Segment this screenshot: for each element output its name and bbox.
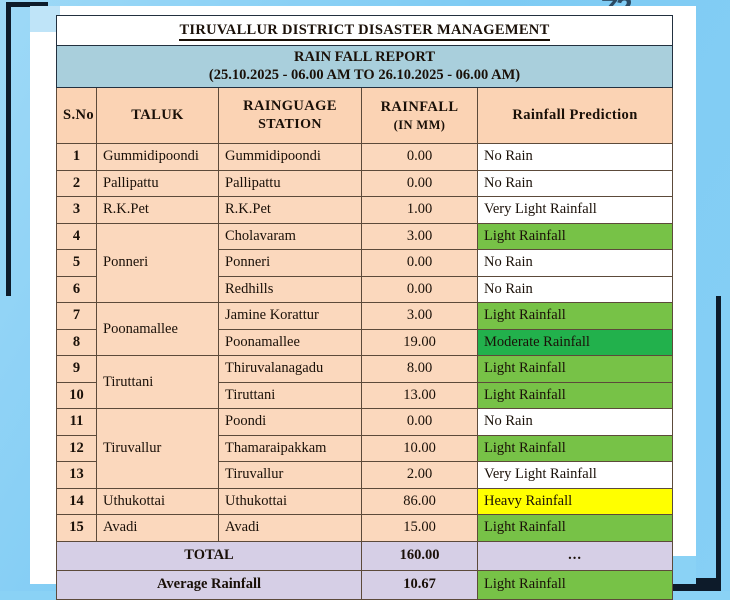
total-value: 160.00 xyxy=(362,541,478,570)
table-row: 1GummidipoondiGummidipoondi0.00No Rain xyxy=(57,144,673,171)
cell-rainfall: 8.00 xyxy=(362,356,478,383)
cell-rainfall: 3.00 xyxy=(362,223,478,250)
cell-rainfall: 13.00 xyxy=(362,382,478,409)
decorative-left-bar xyxy=(6,2,11,296)
column-header-station-line1: RAINGUAGE xyxy=(243,98,337,114)
table-row: 4PonneriCholavaram3.00Light Rainfall xyxy=(57,223,673,250)
cell-sno: 4 xyxy=(57,223,97,250)
cell-station: Thiruvalanagadu xyxy=(219,356,362,383)
cell-station: Pallipattu xyxy=(219,170,362,197)
cell-prediction: No Rain xyxy=(478,144,673,171)
table-row: 9TiruttaniThiruvalanagadu8.00Light Rainf… xyxy=(57,356,673,383)
cell-taluk: Poonamallee xyxy=(97,303,219,356)
cell-taluk: Ponneri xyxy=(97,223,219,303)
cell-rainfall: 10.00 xyxy=(362,435,478,462)
cell-prediction: No Rain xyxy=(478,409,673,436)
column-header-rainfall-line1: RAINFALL xyxy=(381,99,459,115)
average-value: 10.67 xyxy=(362,570,478,599)
cell-station: Cholavaram xyxy=(219,223,362,250)
cell-station: Jamine Korattur xyxy=(219,303,362,330)
column-header-station-line2: STATION xyxy=(225,117,355,133)
report-title: TIRUVALLUR DISTRICT DISASTER MANAGEMENT xyxy=(57,16,673,46)
cell-prediction: No Rain xyxy=(478,170,673,197)
cell-station: Gummidipoondi xyxy=(219,144,362,171)
cell-rainfall: 0.00 xyxy=(362,276,478,303)
column-header-rainfall: RAINFALL (IN MM) xyxy=(362,88,478,144)
cell-rainfall: 2.00 xyxy=(362,462,478,489)
cell-prediction: Light Rainfall xyxy=(478,382,673,409)
column-header-row: S.No TALUK RAINGUAGE STATION RAINFALL (I… xyxy=(57,88,673,144)
cell-rainfall: 86.00 xyxy=(362,488,478,515)
cell-taluk: Tiruvallur xyxy=(97,409,219,489)
cell-prediction: Light Rainfall xyxy=(478,435,673,462)
cell-sno: 2 xyxy=(57,170,97,197)
report-subtitle-line2: (25.10.2025 - 06.00 AM TO 26.10.2025 - 0… xyxy=(63,67,666,84)
cell-sno: 9 xyxy=(57,356,97,383)
cell-sno: 14 xyxy=(57,488,97,515)
column-header-taluk: TALUK xyxy=(97,88,219,144)
cell-station: Ponneri xyxy=(219,250,362,277)
cell-rainfall: 0.00 xyxy=(362,170,478,197)
cell-sno: 6 xyxy=(57,276,97,303)
table-row: 11TiruvallurPoondi0.00No Rain xyxy=(57,409,673,436)
cell-taluk: Tiruttani xyxy=(97,356,219,409)
cell-sno: 10 xyxy=(57,382,97,409)
total-row: TOTAL 160.00 ... xyxy=(57,541,673,570)
subtitle-row: RAIN FALL REPORT (25.10.2025 - 06.00 AM … xyxy=(57,46,673,88)
cell-sno: 1 xyxy=(57,144,97,171)
cell-taluk: Avadi xyxy=(97,515,219,542)
table-row: 2PallipattuPallipattu0.00No Rain xyxy=(57,170,673,197)
cell-prediction: Light Rainfall xyxy=(478,515,673,542)
cell-sno: 12 xyxy=(57,435,97,462)
column-header-sno: S.No xyxy=(57,88,97,144)
cell-sno: 15 xyxy=(57,515,97,542)
average-prediction: Light Rainfall xyxy=(478,570,673,599)
cell-prediction: No Rain xyxy=(478,276,673,303)
table-body: 1GummidipoondiGummidipoondi0.00No Rain2P… xyxy=(57,144,673,542)
cell-prediction: Very Light Rainfall xyxy=(478,197,673,224)
title-row: TIRUVALLUR DISTRICT DISASTER MANAGEMENT xyxy=(57,16,673,46)
table-row: 14UthukottaiUthukottai86.00Heavy Rainfal… xyxy=(57,488,673,515)
cell-sno: 8 xyxy=(57,329,97,356)
cell-sno: 7 xyxy=(57,303,97,330)
table-row: 7PoonamalleeJamine Korattur3.00Light Rai… xyxy=(57,303,673,330)
cell-sno: 13 xyxy=(57,462,97,489)
cell-prediction: Very Light Rainfall xyxy=(478,462,673,489)
cell-station: Redhills xyxy=(219,276,362,303)
cell-sno: 3 xyxy=(57,197,97,224)
cell-prediction: Light Rainfall xyxy=(478,303,673,330)
cell-rainfall: 19.00 xyxy=(362,329,478,356)
table-row: 3R.K.PetR.K.Pet1.00Very Light Rainfall xyxy=(57,197,673,224)
rainfall-report-table: TIRUVALLUR DISTRICT DISASTER MANAGEMENT … xyxy=(56,15,673,600)
cell-rainfall: 0.00 xyxy=(362,250,478,277)
report-subtitle: RAIN FALL REPORT (25.10.2025 - 06.00 AM … xyxy=(57,46,673,88)
cell-station: Poondi xyxy=(219,409,362,436)
cell-station: Thamaraipakkam xyxy=(219,435,362,462)
cell-taluk: R.K.Pet xyxy=(97,197,219,224)
cell-rainfall: 0.00 xyxy=(362,144,478,171)
cell-rainfall: 15.00 xyxy=(362,515,478,542)
cell-station: Tiruvallur xyxy=(219,462,362,489)
column-header-station: RAINGUAGE STATION xyxy=(219,88,362,144)
cell-prediction: No Rain xyxy=(478,250,673,277)
column-header-rainfall-line2: (IN MM) xyxy=(368,118,471,132)
cell-sno: 5 xyxy=(57,250,97,277)
table-foot: TOTAL 160.00 ... Average Rainfall 10.67 … xyxy=(57,541,673,599)
total-prediction: ... xyxy=(478,541,673,570)
column-header-prediction: Rainfall Prediction xyxy=(478,88,673,144)
cell-station: Avadi xyxy=(219,515,362,542)
table-row: 15AvadiAvadi15.00Light Rainfall xyxy=(57,515,673,542)
cell-sno: 11 xyxy=(57,409,97,436)
average-label: Average Rainfall xyxy=(57,570,362,599)
cell-station: Poonamallee xyxy=(219,329,362,356)
cell-station: Uthukottai xyxy=(219,488,362,515)
cell-station: Tiruttani xyxy=(219,382,362,409)
cell-prediction: Light Rainfall xyxy=(478,356,673,383)
cell-taluk: Uthukottai xyxy=(97,488,219,515)
cell-station: R.K.Pet xyxy=(219,197,362,224)
report-subtitle-line1: RAIN FALL REPORT xyxy=(63,49,666,66)
cell-taluk: Pallipattu xyxy=(97,170,219,197)
cell-prediction: Light Rainfall xyxy=(478,223,673,250)
average-row: Average Rainfall 10.67 Light Rainfall xyxy=(57,570,673,599)
decorative-right-bar xyxy=(716,296,721,591)
table-head: TIRUVALLUR DISTRICT DISASTER MANAGEMENT … xyxy=(57,16,673,144)
cell-rainfall: 1.00 xyxy=(362,197,478,224)
cell-rainfall: 0.00 xyxy=(362,409,478,436)
cell-prediction: Heavy Rainfall xyxy=(478,488,673,515)
cell-rainfall: 3.00 xyxy=(362,303,478,330)
report-title-text: TIRUVALLUR DISTRICT DISASTER MANAGEMENT xyxy=(179,22,549,41)
cell-prediction: Moderate Rainfall xyxy=(478,329,673,356)
cell-taluk: Gummidipoondi xyxy=(97,144,219,171)
total-label: TOTAL xyxy=(57,541,362,570)
